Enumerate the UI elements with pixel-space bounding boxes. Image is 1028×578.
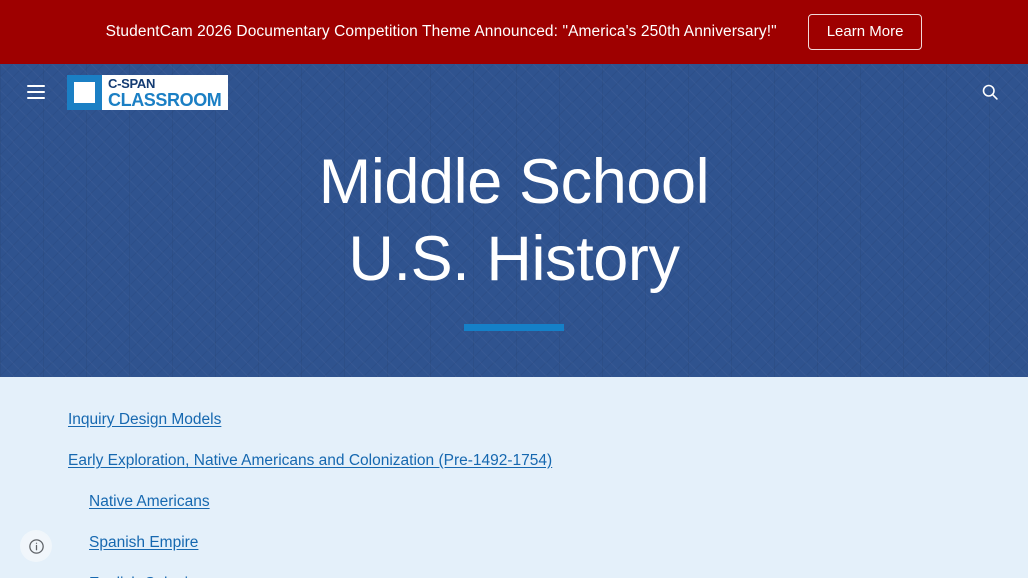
logo-text-classroom: CLASSROOM (108, 91, 221, 109)
hero-section: C-SPAN CLASSROOM Middle School U.S. Hist… (0, 64, 1028, 377)
announcement-banner: StudentCam 2026 Documentary Competition … (0, 0, 1028, 64)
learn-more-button[interactable]: Learn More (808, 14, 923, 50)
topic-link[interactable]: Spanish Empire (89, 534, 198, 552)
page-title: Middle School U.S. History (254, 144, 774, 298)
logo-text-cspan: C-SPAN (108, 77, 221, 90)
topic-link[interactable]: Inquiry Design Models (68, 411, 221, 429)
topic-link-list: Inquiry Design ModelsEarly Exploration, … (0, 399, 1028, 578)
search-icon[interactable] (970, 72, 1010, 112)
hamburger-bar (27, 97, 45, 99)
hamburger-bar (27, 91, 45, 93)
logo-square-icon (67, 75, 102, 110)
logo-square-inner (74, 82, 95, 103)
site-header: C-SPAN CLASSROOM (0, 64, 1028, 120)
list-item: Early Exploration, Native Americans and … (0, 440, 1028, 481)
hamburger-bar (27, 85, 45, 87)
topic-link[interactable]: Early Exploration, Native Americans and … (68, 452, 552, 470)
list-item: Inquiry Design Models (0, 399, 1028, 440)
list-item: English Colonies (0, 563, 1028, 578)
list-item: Spanish Empire (0, 522, 1028, 563)
list-item: Native Americans (0, 481, 1028, 522)
topic-link[interactable]: Native Americans (89, 493, 210, 511)
info-circle-icon[interactable] (22, 532, 50, 560)
hero-divider (464, 324, 564, 331)
hamburger-menu-icon[interactable] (18, 74, 54, 110)
logo-wordmark: C-SPAN CLASSROOM (102, 75, 228, 110)
announcement-message: StudentCam 2026 Documentary Competition … (106, 23, 777, 41)
content-section: Inquiry Design ModelsEarly Exploration, … (0, 377, 1028, 578)
topic-link[interactable]: English Colonies (89, 575, 204, 578)
cspan-classroom-logo[interactable]: C-SPAN CLASSROOM (67, 75, 228, 110)
